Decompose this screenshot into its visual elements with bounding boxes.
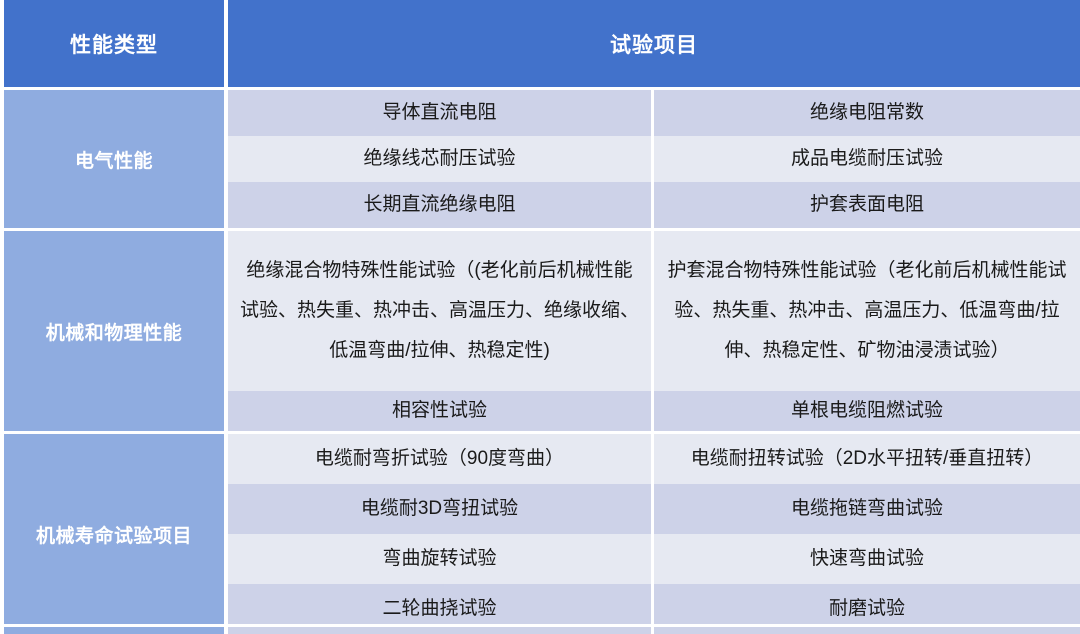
cell-test-item: 电缆耐3D弯扭试验 bbox=[228, 484, 654, 534]
table-row: 相容性试验 单根电缆阻燃试验 bbox=[228, 391, 1080, 431]
cell-test-item: 绝缘电阻常数 bbox=[654, 90, 1080, 136]
cell-test-item: 长期直流绝缘电阻 bbox=[228, 182, 654, 228]
header-cell-category: 性能类型 bbox=[4, 0, 224, 87]
cell-test-item: 电缆拖链弯曲试验 bbox=[654, 484, 1080, 534]
table-row: 绝缘线芯耐压试验 成品电缆耐压试验 bbox=[228, 136, 1080, 182]
cell-test-item: 快速弯曲试验 bbox=[654, 534, 1080, 584]
table-section-mechanical-life: 机械寿命试验项目 电缆耐弯折试验（90度弯曲） 电缆耐扭转试验（2D水平扭转/垂… bbox=[0, 431, 1080, 634]
table-row: 长期直流绝缘电阻 护套表面电阻 bbox=[228, 182, 1080, 228]
rows-wrap-mechanical-physical: 绝缘混合物特殊性能试验（(老化前后机械性能试验、热失重、热冲击、高温压力、绝缘收… bbox=[228, 231, 1080, 431]
header-cell-test-items: 试验项目 bbox=[228, 0, 1080, 87]
cell-test-item: 绝缘线芯耐压试验 bbox=[228, 136, 654, 182]
table-section-electrical: 电气性能 导体直流电阻 绝缘电阻常数 绝缘线芯耐压试验 成品电缆耐压试验 长期直… bbox=[0, 87, 1080, 228]
cell-test-item: 相容性试验 bbox=[228, 391, 654, 431]
cell-test-item: 单根电缆阻燃试验 bbox=[654, 391, 1080, 431]
cell-test-item: 导体直流电阻 bbox=[228, 90, 654, 136]
cell-test-item: 弯曲旋转试验 bbox=[228, 534, 654, 584]
cell-test-item: 绝缘混合物特殊性能试验（(老化前后机械性能试验、热失重、热冲击、高温压力、绝缘收… bbox=[228, 231, 654, 391]
category-cell-mechanical-physical: 机械和物理性能 bbox=[4, 231, 224, 431]
rows-wrap-mechanical-life: 电缆耐弯折试验（90度弯曲） 电缆耐扭转试验（2D水平扭转/垂直扭转） 电缆耐3… bbox=[228, 434, 1080, 634]
table-row: 导体直流电阻 绝缘电阻常数 bbox=[228, 90, 1080, 136]
cell-test-item: 电缆耐扭转试验（2D水平扭转/垂直扭转） bbox=[654, 434, 1080, 484]
table-row: 绝缘混合物特殊性能试验（(老化前后机械性能试验、热失重、热冲击、高温压力、绝缘收… bbox=[228, 231, 1080, 391]
rows-wrap-electrical: 导体直流电阻 绝缘电阻常数 绝缘线芯耐压试验 成品电缆耐压试验 长期直流绝缘电阻… bbox=[228, 90, 1080, 228]
cell-test-item: 护套混合物特殊性能试验（老化前后机械性能试验、热失重、热冲击、高温压力、低温弯曲… bbox=[654, 231, 1080, 391]
table-row: 弯曲旋转试验 快速弯曲试验 bbox=[228, 534, 1080, 584]
table-section-mechanical-physical: 机械和物理性能 绝缘混合物特殊性能试验（(老化前后机械性能试验、热失重、热冲击、… bbox=[0, 228, 1080, 431]
table-header-row: 性能类型 试验项目 bbox=[0, 0, 1080, 87]
table-row: 电缆耐3D弯扭试验 电缆拖链弯曲试验 bbox=[228, 484, 1080, 534]
cell-test-item: 护套表面电阻 bbox=[654, 182, 1080, 228]
category-cell-electrical: 电气性能 bbox=[4, 90, 224, 228]
cell-test-item: 电缆耐弯折试验（90度弯曲） bbox=[228, 434, 654, 484]
cell-test-item: 成品电缆耐压试验 bbox=[654, 136, 1080, 182]
performance-test-items-table: 性能类型 试验项目 电气性能 导体直流电阻 绝缘电阻常数 绝缘线芯耐压试验 成品… bbox=[0, 0, 1080, 627]
table-row: 电缆耐弯折试验（90度弯曲） 电缆耐扭转试验（2D水平扭转/垂直扭转） bbox=[228, 434, 1080, 484]
category-cell-mechanical-life: 机械寿命试验项目 bbox=[4, 434, 224, 634]
